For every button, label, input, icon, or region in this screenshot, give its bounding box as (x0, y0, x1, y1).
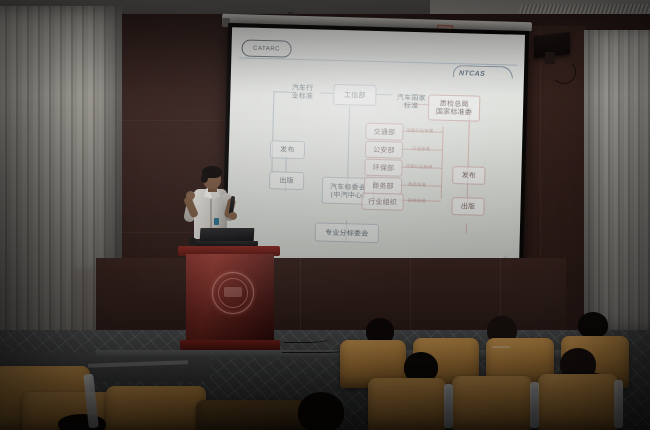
emblem-center (224, 287, 242, 297)
node-chuban-right: 出版 (451, 197, 484, 216)
node-hangye-biaozhun: 汽车行 业标准 (284, 82, 321, 103)
node-label: 工信部 (344, 91, 366, 100)
node-label: 出版 (461, 202, 476, 210)
presenter-hair-side (201, 173, 208, 183)
node-huanbaobu: 环保部 (364, 159, 402, 177)
node-label: 汽车行 业标准 (291, 84, 313, 101)
floor-cable (284, 334, 330, 343)
node-label: 汽车国家 标准 (397, 94, 426, 111)
diagram-line (467, 115, 470, 199)
node-label: 质检总局 国家标准委 (436, 100, 472, 117)
podium-base (180, 340, 280, 350)
projection-screen: CATARC NTCAS (226, 27, 525, 270)
presenter-badge (214, 218, 219, 225)
audience-seat[interactable] (106, 386, 206, 430)
audience-head (578, 312, 608, 338)
node-zhijian-zongju: 质检总局 国家标准委 (428, 94, 481, 121)
auditorium-presentation-photo: CATARC NTCAS (0, 0, 650, 430)
node-label: 公安部 (373, 145, 395, 154)
connector-label: 行业标准 (412, 146, 430, 152)
seat-armrest (530, 382, 539, 428)
seat-armrest (444, 384, 453, 428)
audience-seat[interactable] (538, 374, 618, 430)
audience-seat[interactable] (368, 378, 446, 430)
node-chuban-left: 出版 (269, 171, 304, 190)
panel-smudge (72, 268, 98, 336)
audience-head (58, 414, 106, 430)
presenter-right-hand (229, 212, 237, 220)
node-label: 汽车标委会 (中汽中心) (330, 182, 366, 199)
node-fabu-left: 发布 (270, 140, 305, 159)
node-gonganbu: 公安部 (365, 141, 403, 159)
node-label: 商务部 (372, 181, 394, 190)
org-diagram: 汽车行 业标准 工信部 汽车国家 标准 质检总局 国家标准委 发布 出版 发布 … (226, 27, 525, 270)
node-label: 发布 (462, 171, 477, 179)
seat-armrest (614, 380, 623, 428)
laptop-screen (200, 228, 255, 242)
node-label: 环保部 (373, 163, 395, 172)
speaker-cable (552, 60, 576, 84)
node-label: 发布 (280, 146, 295, 154)
eyeglasses-icon (492, 346, 510, 348)
node-label: 出版 (279, 176, 294, 184)
right-panel-shading (584, 30, 650, 330)
connector-label: 环保行业标准 (405, 164, 432, 171)
diagram-line (271, 91, 274, 171)
connector-label: 商务标准 (408, 182, 426, 188)
node-jiaotongbu: 交通部 (365, 123, 403, 141)
node-zhuanye-fenbiaoweihui: 专业分标委会 (315, 222, 379, 243)
diagram-line (285, 157, 286, 172)
diagram-line (320, 93, 334, 94)
speaker-mount (545, 52, 555, 64)
diagram-line (466, 223, 467, 233)
audience-head (298, 392, 344, 430)
connector-label: 运输行业标准 (406, 128, 433, 135)
node-gongxinbu: 工信部 (333, 84, 377, 106)
node-guojia-biaozhun: 汽车国家 标准 (390, 91, 433, 112)
audience-seat[interactable] (196, 400, 306, 430)
podium-emblem-icon (212, 272, 254, 314)
node-fabu-right: 发布 (452, 166, 485, 185)
connector-label: 团体标准 (408, 198, 426, 204)
node-label: 专业分标委会 (325, 228, 368, 237)
node-hangye-zuzhi: 行业组织 (361, 193, 403, 211)
diagram-line (441, 127, 444, 199)
node-label: 交通部 (374, 127, 396, 136)
node-label: 行业组织 (368, 197, 397, 206)
audience-seat[interactable] (452, 376, 532, 430)
presenter-left-hand (186, 191, 195, 200)
